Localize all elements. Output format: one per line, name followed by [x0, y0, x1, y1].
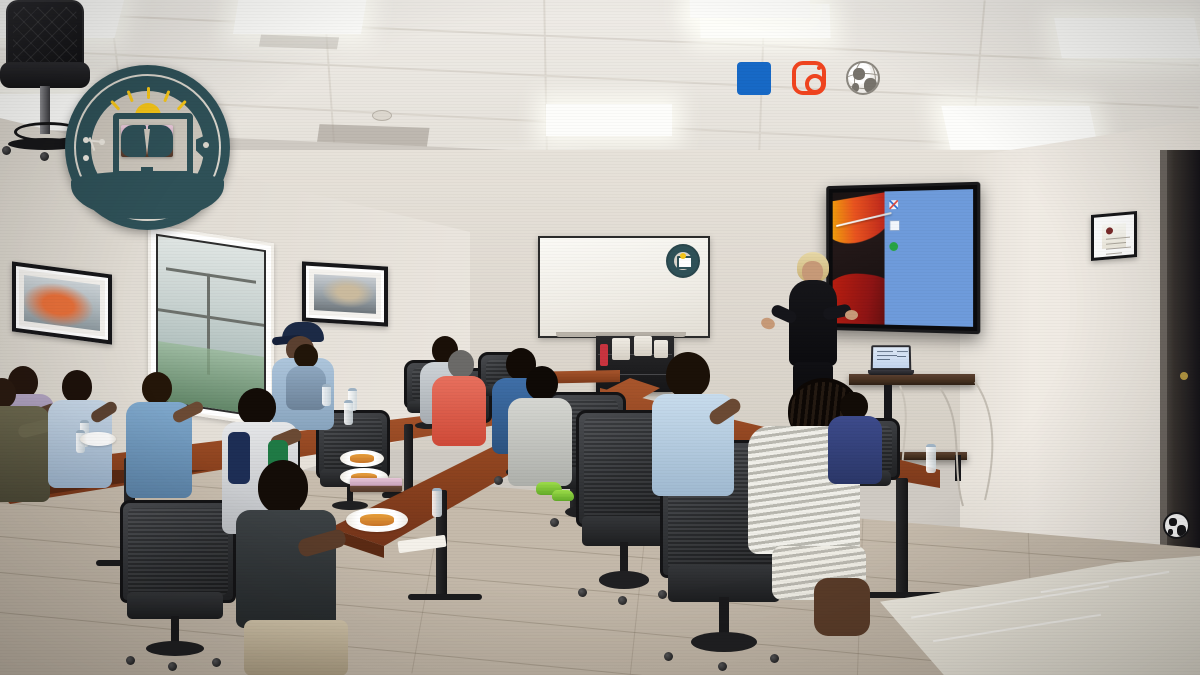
chair-wheel	[126, 656, 135, 665]
marker	[600, 344, 608, 366]
water-bottle	[344, 400, 353, 425]
ceiling-light	[1054, 18, 1200, 58]
student	[124, 372, 196, 500]
whiteboard	[538, 236, 710, 338]
office-chair[interactable]	[120, 500, 230, 668]
helicopter-photo	[12, 261, 112, 344]
facebook-icon[interactable]	[897, 58, 937, 98]
globe-icon	[1163, 512, 1190, 539]
food-plate	[340, 450, 384, 467]
table-foot	[408, 594, 482, 600]
logo-tagline	[65, 65, 230, 230]
student-torso	[508, 398, 572, 486]
student-torso	[432, 376, 486, 446]
presenter-torso	[789, 280, 837, 366]
student	[652, 352, 736, 512]
table-leg	[896, 478, 908, 596]
chair-wheel	[618, 596, 627, 605]
table-leg	[404, 424, 413, 496]
slide	[833, 189, 973, 327]
ceiling-light	[546, 104, 672, 136]
chair-base	[146, 641, 203, 656]
student-head	[142, 372, 172, 404]
chair-post	[620, 542, 628, 575]
certificate-paper	[1102, 223, 1126, 249]
presenter-right-hand	[845, 310, 858, 320]
student-leg	[814, 578, 870, 636]
student-head	[526, 366, 558, 400]
laptop[interactable]	[868, 345, 914, 379]
student-head	[0, 378, 16, 408]
chair-base	[599, 571, 649, 588]
cup-stack	[634, 336, 652, 356]
doorway[interactable]	[1160, 150, 1200, 570]
student	[508, 366, 574, 482]
ceiling-light	[690, 0, 811, 18]
student-head	[238, 388, 276, 426]
instagram-icon[interactable]	[789, 58, 829, 98]
student	[432, 350, 488, 444]
student-head	[666, 352, 710, 398]
ceiling-vent	[316, 124, 429, 150]
stool-wheel	[40, 152, 49, 161]
food	[360, 514, 395, 526]
chair-back	[120, 500, 236, 603]
cup-stack	[612, 338, 630, 360]
photo-image	[314, 274, 376, 314]
x-twitter-icon[interactable]	[951, 58, 991, 98]
chair-post	[719, 597, 729, 636]
chair-wheel	[212, 658, 221, 667]
chair-wheel	[664, 652, 673, 661]
food	[350, 454, 375, 462]
document-icon	[889, 220, 900, 231]
sneaker	[552, 490, 574, 501]
student-torso	[286, 366, 326, 410]
green-dot-icon	[889, 242, 898, 251]
student-torso	[828, 416, 882, 484]
student-head	[258, 460, 308, 514]
classroom-photo	[0, 0, 1200, 675]
stool-wheel	[2, 146, 11, 155]
learnerring-logo	[65, 65, 230, 230]
laptop-lid	[871, 345, 912, 370]
book	[350, 478, 402, 492]
laptop-keyboard	[868, 370, 914, 375]
food-plate	[346, 508, 408, 532]
laptop-screen	[873, 347, 909, 368]
whiteboard-logo-decal	[666, 244, 700, 278]
social-icons-row	[735, 58, 991, 98]
photo-image	[24, 275, 100, 331]
globe-icon[interactable]	[843, 58, 883, 98]
chair-wheel	[578, 588, 587, 597]
chart-icon	[889, 200, 898, 209]
student-shorts	[244, 620, 348, 675]
water-bottle	[926, 444, 936, 473]
chair-wheel	[770, 654, 779, 663]
ceiling-light	[233, 0, 367, 34]
stool-quilting	[13, 7, 77, 67]
chair-wheel	[718, 662, 727, 671]
slide-bullet	[889, 219, 968, 231]
osprey-photo	[302, 261, 388, 326]
slide-bullet	[889, 199, 968, 210]
framed-certificate	[1091, 211, 1137, 261]
student-head	[448, 350, 474, 378]
water-bottle	[322, 384, 331, 406]
student	[828, 392, 884, 488]
slide-bullets-panel	[884, 189, 973, 327]
water-bottle	[432, 488, 442, 517]
slide-bullet	[889, 242, 968, 251]
student	[236, 460, 346, 675]
chair-wheel	[494, 476, 503, 485]
student-head	[294, 344, 318, 368]
chair-wheel	[168, 662, 177, 671]
chair-wheel	[550, 518, 559, 527]
door-handle-icon[interactable]	[1180, 372, 1188, 380]
linkedin-icon[interactable]	[735, 58, 775, 98]
smoke-detector-icon	[372, 110, 392, 121]
student-head	[62, 370, 92, 403]
student-torso	[236, 510, 336, 628]
food-plate	[80, 432, 116, 446]
